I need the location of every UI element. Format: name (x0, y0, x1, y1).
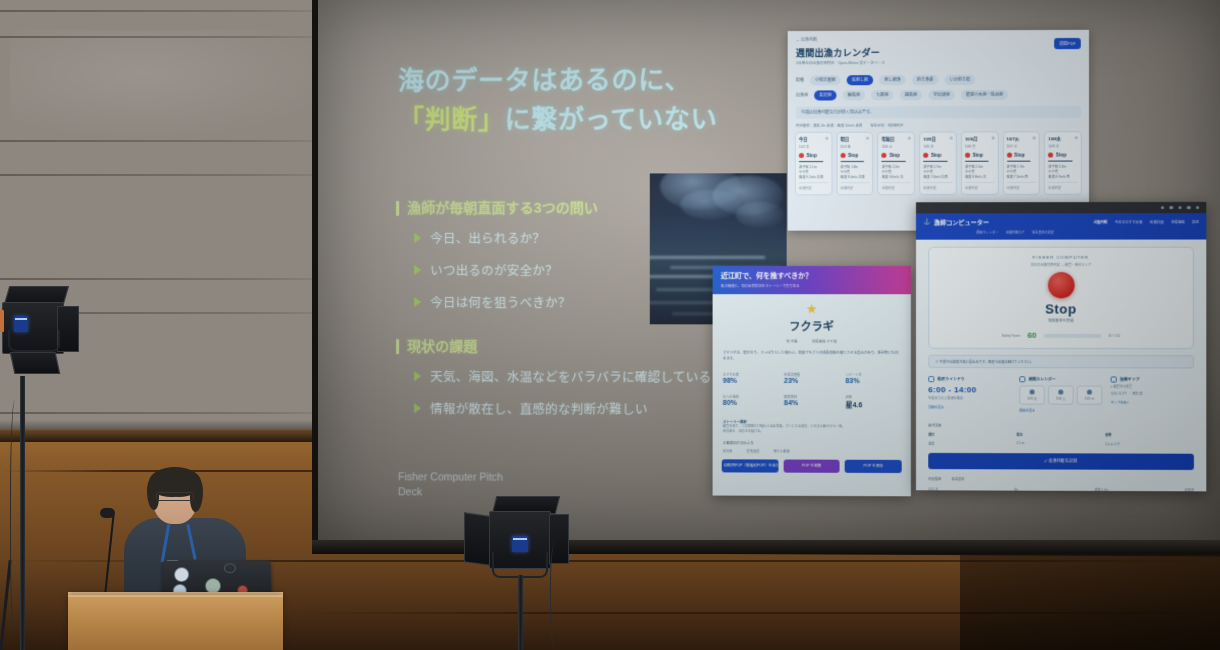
scene-root: 海のデータはあるのに、 「判断」に繋がっていない 漁師が毎朝直面する3つの問い … (0, 0, 1220, 650)
table-cell: 記録済 (1185, 488, 1194, 491)
sub-nav-item[interactable]: 週間カレンダー (976, 230, 998, 235)
score-value: 60 (1027, 331, 1036, 340)
day-metric: 風速 8.4m/s 北東 (840, 175, 869, 180)
panel-title: 推奨ウィンドウ (937, 377, 964, 382)
section-marker-icon (396, 339, 399, 354)
forward-icon[interactable] (1169, 206, 1173, 210)
triangle-bullet-icon (414, 264, 421, 274)
panel-caption: 午前のうちに帰港を推奨 (928, 396, 1011, 401)
list-item: 今日、出られるか？ (414, 228, 598, 247)
filter-pill[interactable]: 宇出津港 (928, 90, 955, 100)
alert-banner: ※ 午前中は波高が高い見込みです。無理な出漁は避けてください。 (928, 355, 1194, 369)
nav-item[interactable]: 設定 (1192, 219, 1199, 224)
mockup-fish-recommendation[interactable]: 近江町で、何を推すべきか？ 魚の価値と、旬の出荷状況をストーリーで売り切る ★ … (713, 266, 911, 496)
card-subtitle: 本日の出漁可否判定 — 能登・金沢エリア (937, 262, 1184, 267)
stat-value: 23% (784, 377, 839, 384)
bookmark-icon[interactable] (1187, 206, 1191, 210)
clock-icon (928, 376, 934, 382)
mockup-weekly-calendar[interactable]: ← 出漁判断 週間出漁カレンダー 1日単位の出漁可否判定 Open-Meteo … (788, 30, 1089, 231)
podium (68, 595, 283, 650)
more-icon[interactable] (908, 136, 911, 139)
nav-item[interactable]: 今日のおすすめ魚 (1115, 219, 1143, 224)
day-date: 10/8 水 (1048, 143, 1077, 148)
table-cell: 波高 (928, 441, 1016, 446)
day-footer-link[interactable]: 出漁判定 (840, 183, 869, 191)
filter-pill[interactable]: 能登小木港・珠洲港 (961, 90, 1008, 100)
day-card[interactable]: 10/5日 10/5 日 Stop 波予報 1.9m やや荒 風速 7.8m/s… (919, 131, 957, 195)
page-title: 週間出漁カレンダー (796, 45, 1081, 59)
column-header: 基準 (1105, 432, 1194, 437)
mini-day-label: 10/3 金 (1021, 397, 1043, 401)
anchor-icon: ⚓ (923, 218, 931, 225)
stat-cell: リピート率 83% (845, 371, 900, 384)
filter-pill-selected[interactable]: 底刺し網 (847, 75, 873, 85)
wall-light-sheen (10, 30, 340, 140)
panel-fishing-map: 漁場マップ ● 能登沖 4海里 水温 21.3℃ ／ 潮流 弱 マップを開く → (1111, 376, 1194, 413)
day-name: 10/8水 (1048, 136, 1061, 142)
wall-seam (0, 174, 360, 176)
status-dot-icon (1058, 390, 1063, 395)
day-card[interactable]: 明後日 10/4 土 Stop 波予報 2.2m やや荒 風速 9.6m/s 北… (878, 132, 915, 196)
table-row: 波高 2.1 m 1.5 m 以下 (928, 441, 1194, 447)
verdict-reason: 波高基準を超過 (937, 319, 1184, 324)
nav-item[interactable]: 市場価格 (1171, 219, 1185, 224)
mini-day-label: 10/5 日 (1079, 397, 1101, 401)
wall-seam (0, 140, 360, 142)
chip[interactable]: 朝どれ鮮魚 (774, 448, 790, 453)
day-name: 明後日 (882, 136, 895, 142)
more-icon[interactable] (825, 136, 828, 139)
fish-meta-row: 旬 中盤 市場価格 やや高 (723, 338, 901, 343)
status-badge: Stop (848, 152, 858, 157)
projection-screen: 海のデータはあるのに、 「判断」に繋がっていない 漁師が毎朝直面する3つの問い … (318, 0, 1220, 546)
day-name: 10/5日 (923, 136, 936, 142)
light-handle (0, 310, 4, 332)
verdict-text: Stop (937, 301, 1184, 316)
back-icon[interactable] (1160, 206, 1164, 210)
bullet-text: 天気、海図、水温などをバラバラに確認している (430, 366, 711, 386)
mini-day-label: 10/4 土 (1050, 397, 1072, 401)
day-date: 10/2 木 (799, 143, 828, 148)
page-subtitle: 魚の価値と、旬の出荷状況をストーリーで売り切る (721, 283, 903, 288)
stat-value: 83% (845, 378, 900, 385)
mini-day-card[interactable]: 10/5 日 (1077, 385, 1103, 404)
status-bar (840, 160, 864, 162)
status-dot-icon (965, 152, 970, 157)
column-header: 現在 (1017, 432, 1106, 437)
bullet-text: 今日、出られるか？ (430, 228, 545, 247)
breadcrumb[interactable]: ← 出漁判断 (796, 36, 1081, 43)
day-footer-link[interactable]: 出漁判定 (1048, 182, 1077, 190)
day-date: 10/5 日 (923, 143, 952, 148)
fish-description: フクラギは、脂がのり、さっぱりとした味わい。刺身でもブリの成長段階を感じさせる旨… (723, 351, 901, 363)
save-pop-button[interactable]: POP を保存 (845, 460, 902, 473)
status-dot-icon (1087, 390, 1092, 395)
day-card[interactable]: 10/6月 10/6 月 Stop 波予報 2.0m やや荒 風速 8.8m/s… (961, 131, 999, 195)
status-dot-icon (840, 152, 845, 157)
chip[interactable]: 旬の魚 (723, 448, 733, 453)
action-button-row: 印刷用POP（魚種別POP）を出力 POP を編集 POP を保存 (713, 459, 911, 480)
wall-seam (0, 278, 360, 280)
stat-label: 評価 (845, 394, 900, 399)
panel-row: 推奨ウィンドウ 6:00 - 14:00 午前のうちに帰港を推奨 詳細を見る →… (916, 368, 1206, 413)
wall-seam (0, 36, 360, 38)
stat-value: 星4.6 (845, 400, 900, 410)
export-pdf-button[interactable]: 週間PDF (1054, 38, 1081, 49)
edit-pop-button[interactable]: POP を編集 (783, 460, 840, 473)
day-metric: 風速 6.9m/s 西 (1048, 174, 1077, 179)
day-card[interactable]: 明日 10/3 金 Stop 波予報 1.8m やや荒 風速 8.4m/s 北東… (836, 132, 873, 196)
bullet-text: 情報が散在し、直感的な判断が難しい (430, 398, 648, 418)
table-cell: 波高 1.2m (1094, 488, 1108, 491)
status-bar (882, 160, 906, 162)
sub-nav-item[interactable]: 出漁判断ログ (1006, 229, 1025, 234)
day-name: 10/6月 (965, 136, 978, 142)
day-footer-link[interactable]: 出漁判定 (882, 183, 911, 191)
status-badge: Stop (1056, 152, 1066, 157)
power-cable (10, 400, 22, 640)
stat-cell: 評価 星4.6 (845, 394, 900, 410)
status-dot-icon (882, 152, 887, 157)
day-metric: 風速 7.2m/s 西 (1007, 174, 1036, 179)
meta-item: 市場価格 やや高 (812, 339, 837, 344)
more-icon[interactable] (866, 136, 869, 139)
score-percent: 60 / 100 (1108, 333, 1120, 337)
meta-item: 旬 中盤 (786, 339, 797, 344)
stat-cell: おすすめ度 98% (723, 371, 778, 384)
day-footer-link[interactable]: 出漁判定 (799, 183, 828, 191)
panel-link[interactable]: 週間を見る → (1019, 408, 1102, 413)
list-item: 天気、海図、水温などをバラバラに確認している (414, 366, 711, 386)
slide-title: 海のデータはあるのに、 「判断」に繋がっていない (398, 60, 822, 140)
navbar-links: 出漁判断 今日のおすすめ魚 出漁計画 市場価格 設定 (1094, 219, 1200, 224)
status-dot-icon (923, 152, 928, 157)
light-display[interactable] (512, 536, 528, 552)
bullet-list: 今日、出られるか？ いつ出るのが安全か？ 今日は何を狙うべきか？ (396, 228, 598, 311)
day-name: 今日 (799, 136, 808, 142)
filter-row-port: 出漁港 金沢港 輪島港 七尾港 蛸島港 宇出津港 能登小木港・珠洲港 (788, 90, 1089, 101)
slide-title-line1: 海のデータはあるのに、 (398, 60, 822, 101)
filter-pill[interactable]: 刺し網漁 (879, 75, 906, 85)
story-line: 旬の魚を、旬のまま届ける。 (723, 429, 901, 435)
filter-label: 船種 (796, 77, 804, 83)
panel-recommended-window: 推奨ウィンドウ 6:00 - 14:00 午前のうちに帰港を推奨 詳細を見る → (928, 376, 1011, 413)
day-date: 10/6 月 (965, 143, 994, 148)
table-title: 条件詳細 (928, 423, 1194, 429)
legend-item: 判定基準：波高 2m 未満／風速 12m/s 未満 (796, 123, 862, 128)
day-footer-link[interactable]: 出漁判定 (1007, 182, 1036, 190)
page-subtitle: 1日単位の出漁可否判定 Open-Meteo 実データベース (796, 60, 1081, 66)
laptop-sticker (174, 567, 189, 582)
stat-cell: 鮮度保持 84% (784, 394, 839, 410)
panel-link[interactable]: 詳細を見る → (928, 404, 1011, 409)
list-item: 今日は何を狙うべきか？ (414, 292, 598, 311)
day-metric: 風速 8.8m/s 北 (965, 175, 994, 180)
filter-pill-selected[interactable]: 金沢港 (814, 90, 836, 100)
day-footer-link[interactable]: 出漁判定 (965, 182, 994, 190)
calendar-icon (1019, 376, 1025, 382)
panel-title: 漁場マップ (1120, 377, 1140, 382)
status-bar (1048, 160, 1072, 162)
mini-day-card[interactable]: 10/3 金 (1019, 385, 1045, 404)
stat-value: 80% (723, 399, 778, 406)
barn-door-left (464, 512, 490, 566)
panel-link[interactable]: マップを開く → (1111, 400, 1194, 405)
day-date: 10/4 土 (882, 143, 911, 148)
navbar-top-row: ⚓ 漁師コンピューター 出漁判断 今日のおすすめ魚 出漁計画 市場価格 設定 (923, 217, 1199, 226)
filter-pill[interactable]: 蛸島港 (900, 90, 922, 100)
status-bar (965, 160, 989, 162)
section-heading-row: 漁師が毎朝直面する3つの問い (396, 198, 598, 218)
barn-door-right (57, 306, 79, 352)
status-dot-icon (1007, 152, 1012, 157)
column-header: 項目 (928, 432, 1016, 437)
safety-score-row: Safety Score 60 60 / 100 (937, 331, 1184, 340)
slide-section-questions: 漁師が毎朝直面する3つの問い 今日、出られるか？ いつ出るのが安全か？ 今日は何… (396, 198, 598, 325)
page-title: 近江町で、何を推すべきか？ (721, 271, 903, 281)
panel-title: 週間カレンダー (1028, 377, 1055, 382)
stat-label: リピート率 (845, 371, 900, 376)
slide-title-line2-rest: に繋がっていない (505, 104, 718, 135)
table-cell: 2.1 m (1017, 441, 1106, 446)
more-icon[interactable] (950, 136, 953, 139)
filter-pill[interactable]: 小型定置網 (810, 75, 841, 85)
more-icon[interactable] (991, 136, 994, 139)
stat-label: おすすめ度 (723, 371, 778, 376)
status-badge: Stop (973, 152, 983, 157)
stat-label: 鮮度保持 (784, 394, 839, 399)
wall-seam (0, 10, 360, 12)
list-item: 情報が散在し、直感的な判断が難しい (414, 398, 711, 418)
status-bar (799, 161, 823, 163)
filter-row-boat-type: 船種 小型定置網 底刺し網 刺し網漁 釣り漁業 いか釣り船 (788, 74, 1089, 85)
mockup-fisher-computer-dashboard[interactable]: ⚓ 漁師コンピューター 出漁判断 今日のおすすめ魚 出漁計画 市場価格 設定 週… (916, 202, 1206, 491)
status-dot-icon (799, 153, 804, 158)
status-badge: Stop (931, 152, 941, 157)
share-icon[interactable] (1178, 206, 1182, 210)
nav-item-selected[interactable]: 出漁判断 (1094, 219, 1108, 224)
wall-seam (0, 412, 360, 414)
day-date: 10/7 火 (1007, 143, 1036, 148)
section-heading-row: 現状の課題 (396, 336, 711, 356)
tabs-icon[interactable] (1195, 206, 1199, 210)
power-cable (550, 540, 564, 650)
slide-footer-line1: Fisher Computer Pitch (398, 470, 519, 486)
section-heading: 漁師が毎朝直面する3つの問い (407, 198, 598, 218)
bullet-text: 今日は何を狙うべきか？ (430, 292, 571, 311)
panel-weekly-calendar: 週間カレンダー 10/3 金 10/4 土 10/5 日 週間を見る → (1019, 376, 1102, 413)
nav-item[interactable]: 出漁計画 (1150, 219, 1164, 224)
time-window-value: 6:00 - 14:00 (928, 385, 1011, 394)
status-badge: Stop (889, 152, 899, 157)
section-marker-icon (396, 200, 399, 215)
conditions-table: 条件詳細 項目 現在 基準 波高 2.1 m 1.5 m 以下 (916, 412, 1206, 446)
mini-day-card[interactable]: 10/4 土 (1048, 385, 1074, 404)
chips-label: お客様向けの伝え方 (723, 440, 901, 446)
status-dot-icon (1030, 389, 1035, 394)
more-icon[interactable] (1075, 136, 1078, 139)
day-card[interactable]: 今日 10/2 木 Stop 波予報 2.1m やや荒 風速 9.2m/s 北東… (795, 132, 832, 196)
status-bar (923, 160, 947, 162)
table-cell: 10/1 水 (928, 487, 938, 491)
slide-section-issues: 現状の課題 天気、海図、水温などをバラバラに確認している 情報が散在し、直感的な… (396, 336, 711, 431)
barn-door-bottom (10, 352, 61, 374)
verdict-card: FISHER COMPUTER 本日の出漁可否判定 — 能登・金沢エリア Sto… (928, 247, 1194, 350)
status-dot-icon (1048, 152, 1053, 157)
triangle-bullet-icon (414, 371, 421, 381)
stat-label: 仕入れ価格 (723, 393, 778, 398)
sub-nav-item[interactable]: 安全基準の設定 (1032, 229, 1054, 234)
record-decision-button[interactable]: ✓ 出漁判断を記録 (928, 453, 1194, 470)
day-name: 10/7火 (1007, 136, 1020, 142)
tab-history[interactable]: 判定履歴 (928, 476, 941, 481)
slide-title-highlight: 「判断」 (398, 104, 504, 134)
history-list: 10/1 水 Go 波高 1.2m 記録済 9/30 火 Go 波高 1.0m … (916, 481, 1206, 491)
table-cell: Go (1014, 488, 1018, 492)
more-icon[interactable] (1033, 136, 1036, 139)
brand[interactable]: ⚓ 漁師コンピューター (923, 217, 989, 226)
brand-label: 漁師コンピューター (934, 217, 989, 226)
triangle-bullet-icon (414, 403, 421, 413)
notice-banner: 今週は出漁可能な日が続く見込みです。 (796, 106, 1081, 119)
recommendation-body: ★ フクラギ 旬 中盤 市場価格 やや高 フクラギは、脂がのり、さっぱりとした味… (713, 294, 911, 460)
filter-pill[interactable]: 釣り漁業 (912, 75, 939, 85)
recommendation-header: 近江町で、何を推すべきか？ 魚の価値と、旬の出荷状況をストーリーで売り切る (713, 266, 911, 294)
filter-pill[interactable]: いか釣り船 (945, 75, 976, 85)
stat-value: 84% (784, 400, 839, 407)
list-item: いつ出るのが安全か？ (414, 260, 598, 279)
chip[interactable]: 産地直送 (747, 448, 760, 453)
calendar-header: ← 出漁判断 週間出漁カレンダー 1日単位の出漁可否判定 Open-Meteo … (788, 30, 1089, 71)
score-label: Safety Score (1002, 333, 1021, 337)
day-name: 明日 (840, 136, 849, 142)
browser-chrome (916, 202, 1206, 213)
bottom-tab-row: 判定履歴 安全基準 (916, 469, 1206, 482)
panel-caption: ● 能登沖 4海里 (1111, 385, 1194, 390)
filter-label: 出漁港 (796, 92, 808, 98)
glasses-icon (156, 492, 194, 501)
map-icon (1111, 376, 1117, 382)
day-card[interactable]: 10/8水 10/8 水 Stop 波予報 1.6m やや荒 風速 6.9m/s… (1044, 131, 1082, 195)
card-title: FISHER COMPUTER (937, 255, 1184, 260)
bullet-list: 天気、海図、水温などをバラバラに確認している 情報が散在し、直感的な判断が難しい (396, 366, 711, 418)
day-footer-link[interactable]: 出漁判定 (923, 183, 952, 191)
status-bar (1007, 160, 1031, 162)
app-navbar: ⚓ 漁師コンピューター 出漁判断 今日のおすすめ魚 出漁計画 市場価格 設定 週… (916, 213, 1206, 240)
star-icon: ★ (723, 302, 901, 315)
filter-pill[interactable]: 輪島港 (843, 90, 865, 100)
table-cell: 1.5 m 以下 (1105, 441, 1194, 446)
status-badge: Stop (806, 152, 816, 157)
day-card[interactable]: 10/7火 10/7 火 Stop 波予報 1.7m やや荒 風速 7.2m/s… (1002, 131, 1040, 195)
day-date: 10/3 金 (840, 143, 869, 148)
day-metric: 風速 9.6m/s 北 (882, 175, 911, 180)
status-badge: Stop (1014, 152, 1024, 157)
day-card-row: 今日 10/2 木 Stop 波予報 2.1m やや荒 風速 9.2m/s 北東… (788, 127, 1089, 195)
navbar-sub-links: 週間カレンダー 出漁判断ログ 安全基準の設定 (923, 229, 1199, 234)
microphone-icon (100, 508, 115, 518)
day-metric: 風速 9.2m/s 北東 (799, 175, 828, 180)
stat-value: 98% (723, 377, 778, 384)
table-header-row: 項目 現在 基準 (928, 432, 1194, 438)
stat-cell: 仕入れ価格 80% (723, 393, 778, 409)
triangle-bullet-icon (414, 232, 421, 242)
panel-caption: 水温 21.3℃ ／ 潮流 弱 (1111, 392, 1194, 397)
red-circle-icon (1047, 272, 1074, 298)
mini-day-row: 10/3 金 10/4 土 10/5 日 (1019, 385, 1102, 404)
light-yoke (8, 330, 60, 352)
laptop-sticker (224, 563, 236, 573)
day-metric: 風速 7.8m/s 北西 (923, 175, 952, 180)
light-stand-pole (518, 575, 523, 650)
tab-safety-standard[interactable]: 安全基準 (951, 476, 964, 481)
table-row[interactable]: 10/1 水 Go 波高 1.2m 記録済 (928, 485, 1194, 491)
chips-row: 旬の魚 産地直送 朝どれ鮮魚 (723, 448, 901, 454)
triangle-bullet-icon (414, 297, 421, 307)
legend-item: 安全余裕：3段階判定 (870, 122, 903, 127)
filter-pill[interactable]: 七尾港 (871, 90, 893, 100)
fish-name: フクラギ (723, 318, 901, 334)
stat-cell: 市場流通量 23% (784, 371, 839, 384)
stats-grid: おすすめ度 98% 市場流通量 23% リピート率 83% 仕入れ価格 80% (723, 371, 901, 410)
slide-title-line2: 「判断」に繋がっていない (398, 100, 822, 140)
stat-label: 市場流通量 (784, 371, 839, 376)
score-progress-bar (1044, 333, 1101, 337)
screen-bottom-frame (312, 540, 1220, 554)
section-heading: 現状の課題 (407, 336, 477, 356)
bullet-text: いつ出るのが安全か？ (430, 260, 558, 279)
print-pop-button[interactable]: 印刷用POP（魚種別POP）を出力 (722, 459, 778, 472)
